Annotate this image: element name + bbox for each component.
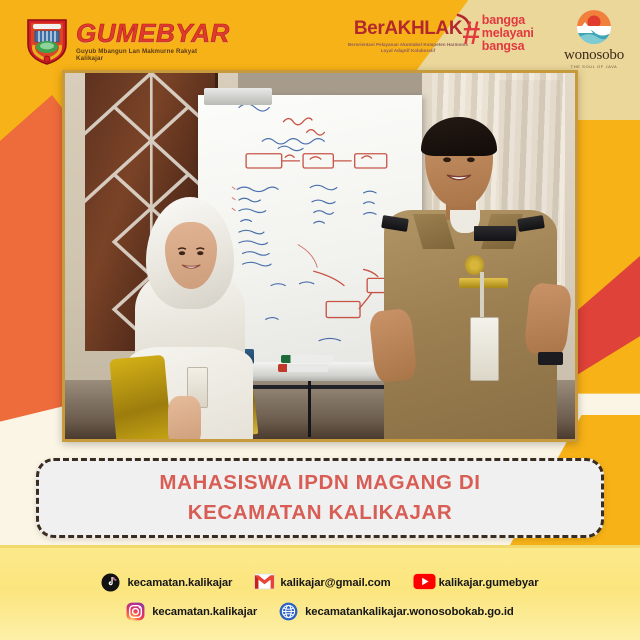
woman-gold-batik-sash <box>109 355 171 439</box>
gumebyar-wordmark: GUMEBYAR <box>76 20 226 46</box>
tiktok-icon <box>101 573 120 592</box>
photo-frame <box>62 70 578 442</box>
man-lanyard <box>480 272 484 324</box>
footer-youtube-channel: kalikajar.gumebyar <box>439 577 539 589</box>
man-id-card <box>470 317 498 381</box>
easel-leg-center <box>308 381 312 437</box>
woman-face <box>165 222 217 290</box>
event-photo <box>65 73 575 439</box>
footer-item-youtube[interactable]: kalikajar.gumebyar <box>413 573 539 592</box>
red-marker <box>278 364 327 372</box>
man-name-plate <box>474 226 516 240</box>
footer-row-2: kecamatan.kalikajar kecamatankalikajar <box>126 602 513 621</box>
youtube-icon <box>413 573 432 592</box>
poster-footer: kecamatan.kalikajar kalikajar@gmail.com <box>0 548 640 640</box>
person-woman-in-hijab <box>121 197 259 439</box>
footer-row-1: kecamatan.kalikajar kalikajar@gmail.com <box>101 573 538 592</box>
green-marker <box>281 355 335 363</box>
footer-gmail-address: kalikajar@gmail.com <box>280 577 390 589</box>
announcement-title-box: MAHASISWA IPDN MAGANG DI KECAMATAN KALIK… <box>36 458 604 538</box>
beraknlak-logo: BerAKHLAK Berorientasi Pelayanan Akuntab… <box>348 18 468 54</box>
hashtag-icon: # <box>462 19 478 48</box>
bangga-line-3: bangsa <box>482 40 534 53</box>
title-line-2: KECAMATAN KALIKAJAR <box>188 498 453 528</box>
wonosobo-wordmark: wonosobo <box>556 47 632 64</box>
woman-raised-hand <box>168 396 201 440</box>
wonosobo-coat-of-arms-icon <box>22 14 72 66</box>
wonosobo-mountain-icon <box>575 8 613 46</box>
bangga-melayani-bangsa-logo: # bangga melayani bangsa <box>462 14 562 53</box>
footer-website-url: kecamatankalikajar.wonosobokab.go.id <box>305 606 514 618</box>
wonosobo-tourism-logo: wonosobo THE SOUL OF JAVA <box>556 8 632 69</box>
footer-instagram-handle: kecamatan.kalikajar <box>152 606 257 618</box>
poster-header: GUMEBYAR Guyub Mbangun Lan Makmurne Raky… <box>0 0 640 70</box>
footer-item-website[interactable]: kecamatankalikajar.wonosobokab.go.id <box>279 602 514 621</box>
man-wristwatch <box>538 352 563 365</box>
man-raised-hand-right <box>523 282 572 357</box>
footer-item-gmail[interactable]: kalikajar@gmail.com <box>254 573 390 592</box>
man-raised-hand-left <box>369 308 418 383</box>
bangga-lines: bangga melayani bangsa <box>482 14 534 53</box>
flipchart-clip <box>204 88 271 106</box>
beraknlak-text: BerAKHLAK <box>354 18 462 39</box>
beraknlak-values: Berorientasi Pelayanan Akuntabel Kompete… <box>348 42 468 54</box>
poster-canvas: GUMEBYAR Guyub Mbangun Lan Makmurne Raky… <box>0 0 640 640</box>
instagram-icon <box>126 602 145 621</box>
gumebyar-tagline: Guyub Mbangun Lan Makmurne Rakyat Kalika… <box>76 48 226 62</box>
person-man-in-uniform <box>376 117 565 439</box>
gumebyar-logo: GUMEBYAR Guyub Mbangun Lan Makmurne Raky… <box>76 20 226 62</box>
footer-item-instagram[interactable]: kecamatan.kalikajar <box>126 602 257 621</box>
man-uniform-gold-stripe <box>459 278 508 288</box>
footer-tiktok-handle: kecamatan.kalikajar <box>127 577 232 589</box>
website-globe-icon <box>279 602 298 621</box>
gmail-icon <box>254 573 273 592</box>
footer-item-tiktok[interactable]: kecamatan.kalikajar <box>101 573 232 592</box>
title-line-1: MAHASISWA IPDN MAGANG DI <box>159 468 480 498</box>
beraknlak-wordmark: BerAKHLAK <box>354 18 462 40</box>
wonosobo-tagline: THE SOUL OF JAVA <box>556 64 632 69</box>
